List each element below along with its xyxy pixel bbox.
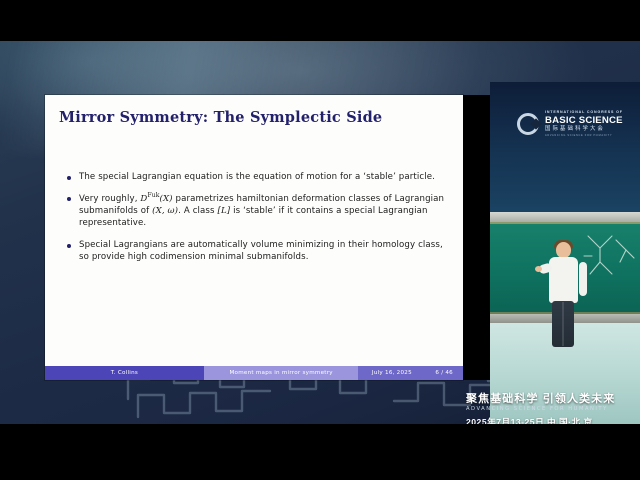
slide-footer-bar: T. Collins Moment maps in mirror symmetr… (45, 366, 463, 380)
bullet-dot-icon (67, 176, 71, 180)
footer-page-number: 6 / 46 (425, 366, 463, 380)
speaker-head (556, 242, 571, 258)
bullet-dot-icon (67, 244, 71, 248)
congress-logo-line1: INTERNATIONAL CONGRESS OF (545, 111, 623, 115)
speaker-right-arm (579, 262, 587, 296)
slide-gutter (463, 95, 490, 380)
congress-caption: 聚焦基础科学 引领人类未来 ADVANCING SCIENCE FOR HUMA… (466, 393, 640, 424)
bullet-dot-icon (67, 197, 71, 201)
bullet-text-2: Very roughly, DFuk(X) parametrizes hamil… (79, 192, 447, 229)
congress-logo-line3: 国际基础科学大会 (545, 127, 623, 132)
list-item: The special Lagrangian equation is the e… (67, 171, 447, 183)
bullet-text-3: Special Lagrangians are automatically vo… (79, 239, 447, 263)
congress-logo: INTERNATIONAL CONGRESS OF BASIC SCIENCE … (517, 107, 635, 141)
speaker-leg-separation (562, 302, 564, 346)
congress-ring-icon (517, 113, 539, 135)
caption-headline-en: ADVANCING SCIENCE FOR HUMANITY (466, 407, 640, 413)
bullet-text-1: The special Lagrangian equation is the e… (79, 171, 435, 183)
footer-talk-title: Moment maps in mirror symmetry (204, 366, 359, 380)
letterbox-bottom (0, 424, 640, 480)
chalkboard-writing (580, 232, 636, 282)
speaker-torso (549, 257, 578, 303)
wall-trim (490, 212, 640, 222)
speaker-legs (552, 301, 574, 347)
video-player-stage: INTERNATIONAL CONGRESS OF BASIC SCIENCE … (0, 0, 640, 480)
lecture-hall-upper-wall (490, 82, 640, 217)
footer-date: July 16, 2025 (358, 366, 425, 380)
footer-author: T. Collins (45, 366, 204, 380)
presentation-slide: Mirror Symmetry: The Symplectic Side The… (45, 95, 463, 380)
caption-headline-cn: 聚焦基础科学 引领人类未来 (466, 393, 640, 405)
letterbox-top (0, 0, 640, 41)
slide-bullet-list: The special Lagrangian equation is the e… (67, 171, 447, 272)
list-item: Special Lagrangians are automatically vo… (67, 239, 447, 263)
speaker-figure (542, 242, 586, 350)
congress-logo-text: INTERNATIONAL CONGRESS OF BASIC SCIENCE … (545, 111, 623, 137)
congress-logo-line2: BASIC SCIENCE (545, 116, 623, 126)
congress-logo-line4: ADVANCING SCIENCE FOR HUMANITY (545, 135, 623, 138)
list-item: Very roughly, DFuk(X) parametrizes hamil… (67, 192, 447, 229)
speaker-left-hand (535, 266, 542, 272)
slide-title: Mirror Symmetry: The Symplectic Side (59, 109, 453, 126)
video-frame: INTERNATIONAL CONGRESS OF BASIC SCIENCE … (0, 41, 640, 424)
